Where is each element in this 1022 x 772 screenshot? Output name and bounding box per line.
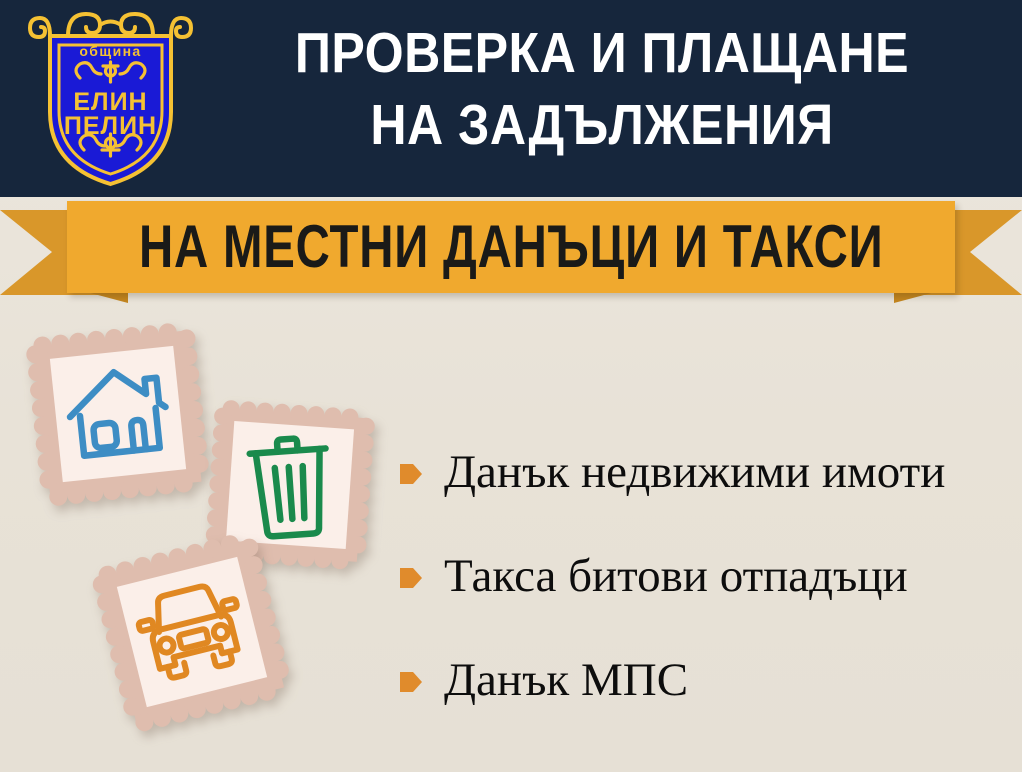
list-item[interactable]: Данък МПС (400, 628, 1015, 732)
arrow-bullet-icon (400, 565, 422, 591)
poster-canvas: община ЕЛИН ПЕЛИН ПРОВЕРКА И ПЛАЩАНЕ НА … (0, 0, 1022, 772)
page-title-line-1: ПРОВЕРКА И ПЛАЩАНЕ (245, 17, 960, 89)
stamp-illustration-group (0, 300, 400, 770)
header-title-block: ПРОВЕРКА И ПЛАЩАНЕ НА ЗАДЪЛЖЕНИЯ (196, 17, 1008, 161)
ribbon-main-panel: НА МЕСТНИ ДАНЪЦИ И ТАКСИ (67, 201, 955, 293)
municipality-emblem: община ЕЛИН ПЕЛИН (28, 8, 193, 190)
subtitle-ribbon: НА МЕСТНИ ДАНЪЦИ И ТАКСИ (0, 197, 1022, 309)
emblem-line-obshtina: община (79, 43, 141, 59)
list-item-label: Данък МПС (444, 654, 688, 706)
arrow-bullet-icon (400, 461, 422, 487)
list-item[interactable]: Такса битови отпадъци (400, 524, 1015, 628)
stamp-car (80, 520, 305, 745)
arrow-bullet-icon (400, 669, 422, 695)
header-banner: община ЕЛИН ПЕЛИН ПРОВЕРКА И ПЛАЩАНЕ НА … (0, 0, 1022, 197)
services-list: Данък недвижими имоти Такса битови отпад… (400, 420, 1015, 732)
page-title-line-2: НА ЗАДЪЛЖЕНИЯ (245, 89, 960, 161)
ribbon-subtitle: НА МЕСТНИ ДАНЪЦИ И ТАКСИ (139, 217, 884, 277)
emblem-line-pelin: ПЕЛИН (64, 112, 157, 140)
list-item-label: Такса битови отпадъци (444, 550, 908, 602)
list-item[interactable]: Данък недвижими имоти (400, 420, 1015, 524)
list-item-label: Данък недвижими имоти (444, 446, 945, 498)
